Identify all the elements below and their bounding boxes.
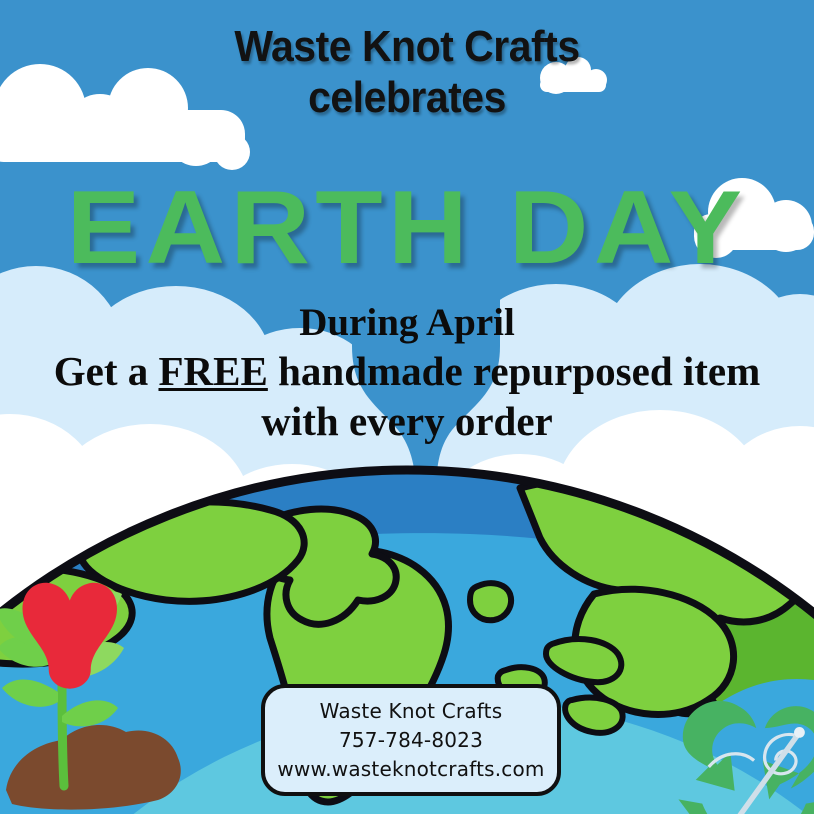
promo-line-2-before: Get a <box>54 348 159 394</box>
earth-day-promo-poster: Waste Knot Crafts celebrates EARTH DAY D… <box>0 0 814 814</box>
headline-line-2: celebrates <box>28 73 785 124</box>
promo-line-1: During April <box>0 300 814 346</box>
headline: Waste Knot Crafts celebrates <box>0 22 814 123</box>
promo-message: During April Get a FREE handmade repurpo… <box>0 300 814 446</box>
contact-phone[interactable]: 757-784-8023 <box>339 727 483 754</box>
page-title: EARTH DAY <box>0 176 814 280</box>
promo-line-2: Get a FREE handmade repurposed item <box>0 346 814 396</box>
headline-line-1: Waste Knot Crafts <box>28 22 785 73</box>
contact-website[interactable]: www.wasteknotcrafts.com <box>277 756 544 783</box>
promo-highlight-free: FREE <box>158 348 267 394</box>
promo-line-3: with every order <box>0 396 814 446</box>
contact-card: Waste Knot Crafts 757-784-8023 www.waste… <box>261 684 561 796</box>
promo-line-2-after: handmade repurposed item <box>268 348 760 394</box>
contact-business-name: Waste Knot Crafts <box>320 698 503 725</box>
